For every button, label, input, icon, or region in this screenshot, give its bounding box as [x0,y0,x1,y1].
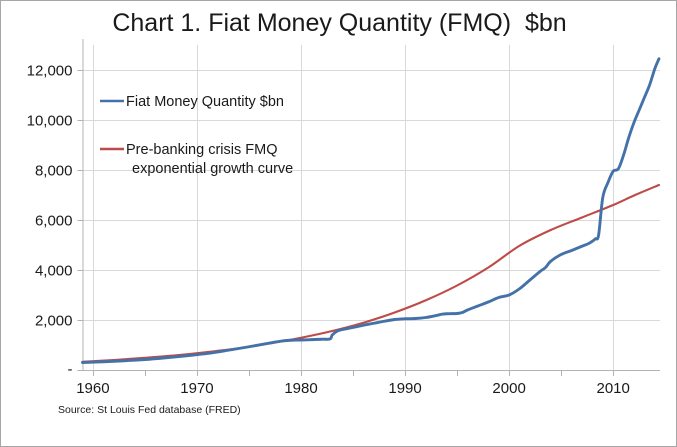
legend-label-fmq: Fiat Money Quantity $bn [126,94,284,110]
legend-label-trend-line2: exponential growth curve [132,161,293,177]
x-axis-labels: 196019701980199020002010 [76,380,630,397]
chart-legend: Fiat Money Quantity $bnPre-banking crisi… [100,94,293,177]
y-axis-tick-label: 8,000 [35,163,73,180]
y-axis-tick-label: - [68,361,73,378]
source-note-text: Source: St Louis Fed database (FRED) [58,404,241,416]
chart-container: Chart 1. Fiat Money Quantity (FMQ) $bn -… [0,0,677,447]
x-axis-tick-label: 1960 [76,380,109,397]
source-note: Source: St Louis Fed database (FRED) [58,404,241,416]
series-line-trend [83,185,659,362]
legend-label-trend: Pre-banking crisis FMQ [126,142,277,158]
y-axis-tick-label: 6,000 [35,213,73,230]
y-axis-tick-label: 12,000 [27,63,73,80]
x-axis-tick-label: 2010 [596,380,629,397]
y-axis-tick-label: 2,000 [35,313,73,330]
chart-plot-area: -2,0004,0006,0008,00010,00012,000 196019… [1,1,677,447]
y-axis-tick-label: 10,000 [27,113,73,130]
x-axis-tick-label: 1980 [284,380,317,397]
x-axis-tick-label: 1990 [388,380,421,397]
x-axis-tick-label: 2000 [492,380,525,397]
y-axis-tick-label: 4,000 [35,263,73,280]
y-axis-labels: -2,0004,0006,0008,00010,00012,000 [27,63,73,379]
x-axis-tick-label: 1970 [180,380,213,397]
